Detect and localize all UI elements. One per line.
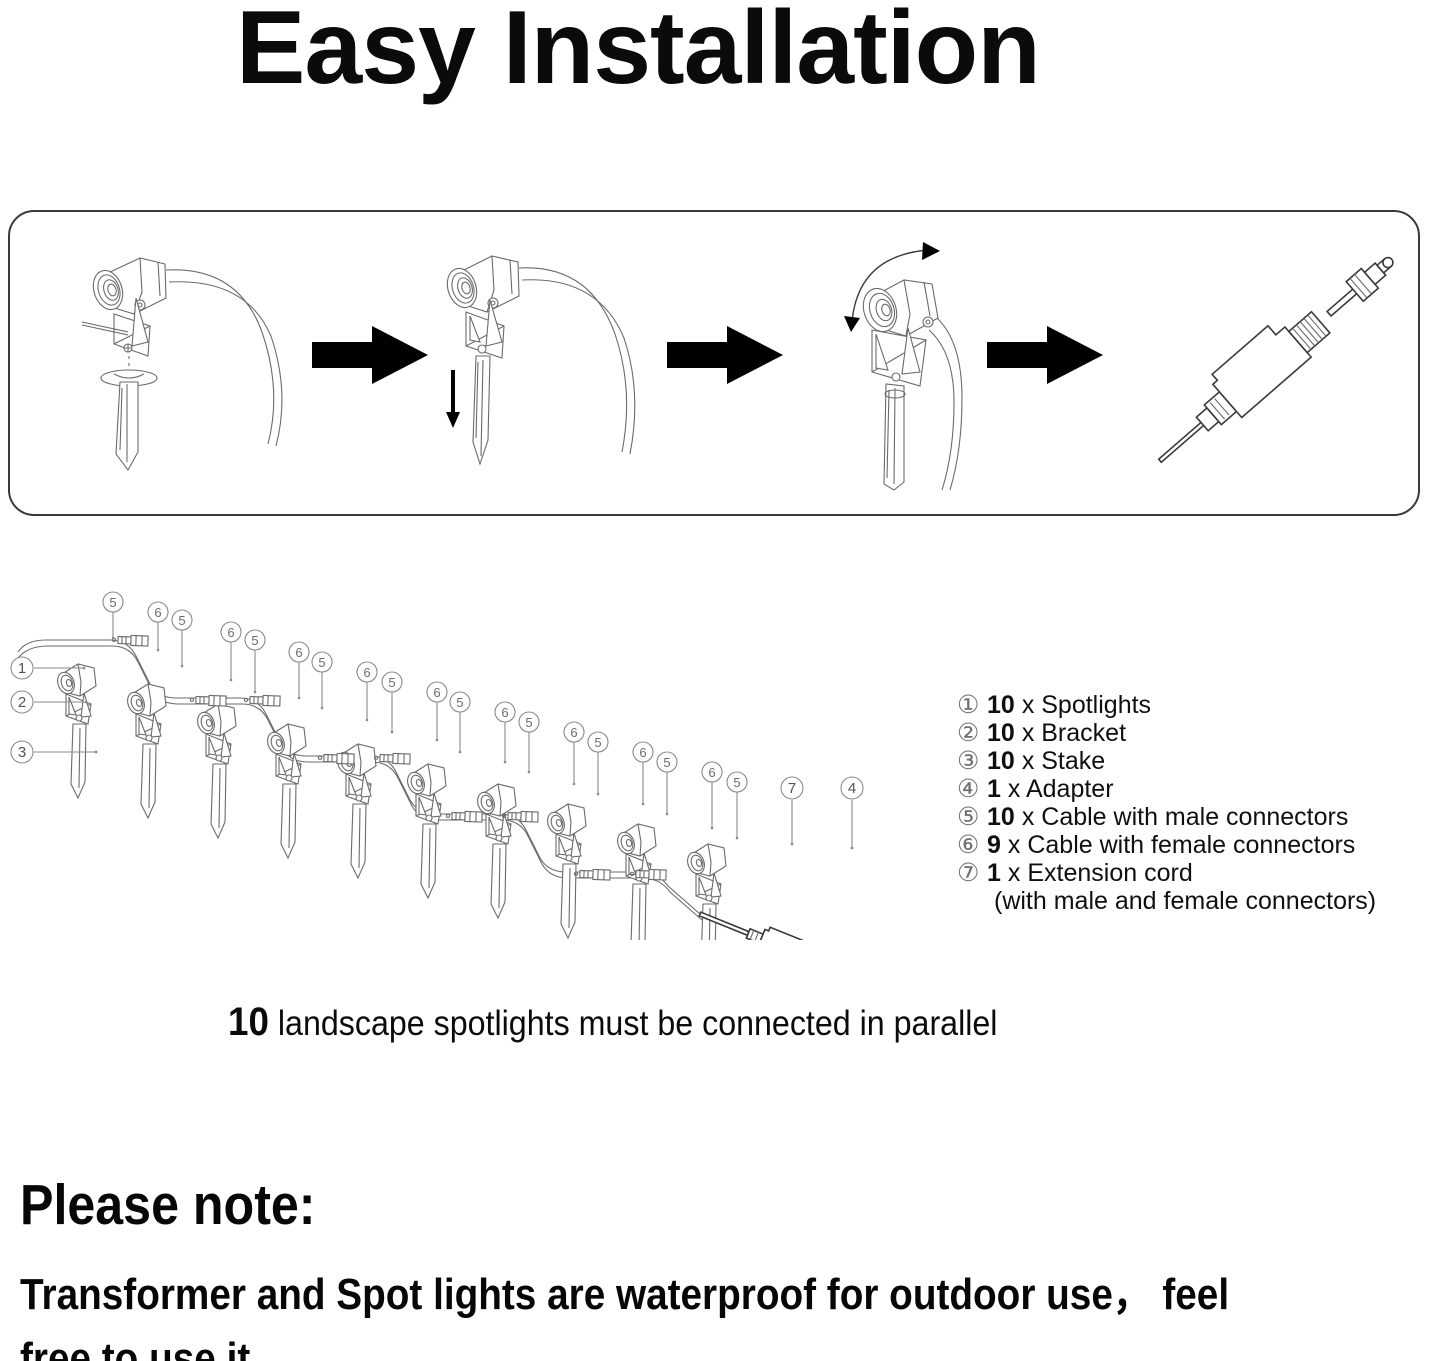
note-line-1: Transformer and Spot lights are waterpro… bbox=[20, 1263, 1252, 1327]
cable-icon bbox=[929, 318, 962, 490]
legend-label-3: x Stake bbox=[1022, 747, 1105, 775]
legend-label-4: x Adapter bbox=[1008, 775, 1114, 803]
svg-text:2: 2 bbox=[18, 694, 26, 711]
callout-7: 7 bbox=[781, 777, 803, 845]
adapter-cable-icon bbox=[1140, 236, 1406, 477]
svg-text:5: 5 bbox=[109, 595, 116, 610]
svg-text:6: 6 bbox=[227, 625, 234, 640]
svg-text:6: 6 bbox=[570, 725, 577, 740]
page-title: Easy Installation bbox=[236, 0, 1040, 103]
legend-sub-note: (with male and female connectors) bbox=[957, 887, 1417, 917]
svg-text:5: 5 bbox=[251, 633, 258, 648]
spotlight-body-icon bbox=[858, 280, 938, 336]
stake-icon bbox=[884, 384, 905, 490]
cable-connectors bbox=[112, 635, 666, 880]
svg-text:5: 5 bbox=[594, 735, 601, 750]
note-heading: Please note: bbox=[20, 1172, 316, 1238]
legend-qty-1: 10 bbox=[987, 691, 1015, 719]
caption-rest: landscape spotlights must be connected i… bbox=[269, 1004, 998, 1043]
cable-icon bbox=[519, 268, 635, 454]
svg-text:5: 5 bbox=[733, 775, 740, 790]
legend-item-2: ② 10 x Bracket bbox=[957, 719, 1417, 747]
stake-icon bbox=[101, 356, 157, 470]
svg-text:3: 3 bbox=[18, 744, 26, 761]
step-2-illustration bbox=[440, 230, 700, 480]
legend-qty-6: 9 bbox=[987, 831, 1001, 859]
installation-steps-panel bbox=[8, 210, 1420, 516]
spotlight-body-icon bbox=[443, 256, 519, 312]
arrow-right-icon-1 bbox=[310, 320, 430, 390]
note-body: Transformer and Spot lights are waterpro… bbox=[20, 1263, 1252, 1361]
legend-qty-3: 10 bbox=[987, 747, 1015, 775]
arrow-right-icon-2 bbox=[665, 320, 785, 390]
legend-item-6: ⑥ 9 x Cable with female connectors bbox=[957, 831, 1417, 859]
parallel-wiring-diagram: 1 2 3 5 6 5 6 5 6 5 6 bbox=[0, 580, 960, 940]
arrow-right-icon-3 bbox=[985, 320, 1105, 390]
cable-icon bbox=[166, 270, 282, 446]
legend-label-2: x Bracket bbox=[1022, 719, 1126, 747]
product-instruction-page: Easy Installation bbox=[0, 0, 1445, 1361]
legend-item-5: ⑤ 10 x Cable with male connectors bbox=[957, 803, 1417, 831]
svg-text:4: 4 bbox=[848, 780, 856, 797]
svg-text:5: 5 bbox=[525, 715, 532, 730]
svg-text:5: 5 bbox=[456, 695, 463, 710]
svg-text:5: 5 bbox=[663, 755, 670, 770]
callout-4: 4 bbox=[841, 777, 863, 849]
stake-icon bbox=[473, 356, 490, 464]
adapter-and-extension bbox=[696, 901, 905, 940]
legend-number-7: ⑦ bbox=[957, 859, 987, 887]
caption-lead: 10 bbox=[228, 1000, 269, 1044]
svg-text:6: 6 bbox=[501, 705, 508, 720]
svg-text:6: 6 bbox=[433, 685, 440, 700]
parts-legend: ① 10 x Spotlights ② 10 x Bracket ③ 10 x … bbox=[957, 691, 1417, 917]
spotlight-units bbox=[55, 664, 726, 940]
legend-item-3: ③ 10 x Stake bbox=[957, 747, 1417, 775]
legend-qty-2: 10 bbox=[987, 719, 1015, 747]
svg-text:7: 7 bbox=[788, 780, 796, 797]
step-1-illustration bbox=[70, 222, 340, 472]
svg-text:6: 6 bbox=[295, 645, 302, 660]
step-4-illustration bbox=[1132, 224, 1422, 494]
legend-number-2: ② bbox=[957, 719, 987, 747]
bracket-icon bbox=[872, 328, 926, 386]
legend-qty-7: 1 bbox=[987, 859, 1001, 887]
svg-text:5: 5 bbox=[178, 613, 185, 628]
legend-qty-5: 10 bbox=[987, 803, 1015, 831]
legend-number-6: ⑥ bbox=[957, 831, 987, 859]
legend-item-7: ⑦ 1 x Extension cord bbox=[957, 859, 1417, 887]
svg-text:6: 6 bbox=[708, 765, 715, 780]
legend-number-1: ① bbox=[957, 691, 987, 719]
legend-label-7: x Extension cord bbox=[1008, 859, 1193, 887]
svg-text:1: 1 bbox=[18, 660, 26, 677]
legend-item-4: ④ 1 x Adapter bbox=[957, 775, 1417, 803]
legend-label-1: x Spotlights bbox=[1022, 691, 1151, 719]
svg-text:5: 5 bbox=[318, 655, 325, 670]
note-line-2: free to use it. bbox=[20, 1327, 1252, 1361]
svg-text:6: 6 bbox=[363, 665, 370, 680]
spotlight-body-icon bbox=[89, 258, 166, 314]
svg-text:5: 5 bbox=[388, 675, 395, 690]
parallel-caption: 10 landscape spotlights must be connecte… bbox=[228, 1000, 997, 1045]
legend-qty-4: 1 bbox=[987, 775, 1001, 803]
legend-item-1: ① 10 x Spotlights bbox=[957, 691, 1417, 719]
svg-text:6: 6 bbox=[639, 745, 646, 760]
legend-number-4: ④ bbox=[957, 775, 987, 803]
legend-label-5: x Cable with male connectors bbox=[1022, 803, 1349, 831]
legend-number-5: ⑤ bbox=[957, 803, 987, 831]
legend-number-3: ③ bbox=[957, 747, 987, 775]
svg-text:6: 6 bbox=[154, 605, 161, 620]
legend-label-6: x Cable with female connectors bbox=[1008, 831, 1355, 859]
down-arrow-icon bbox=[446, 370, 460, 428]
